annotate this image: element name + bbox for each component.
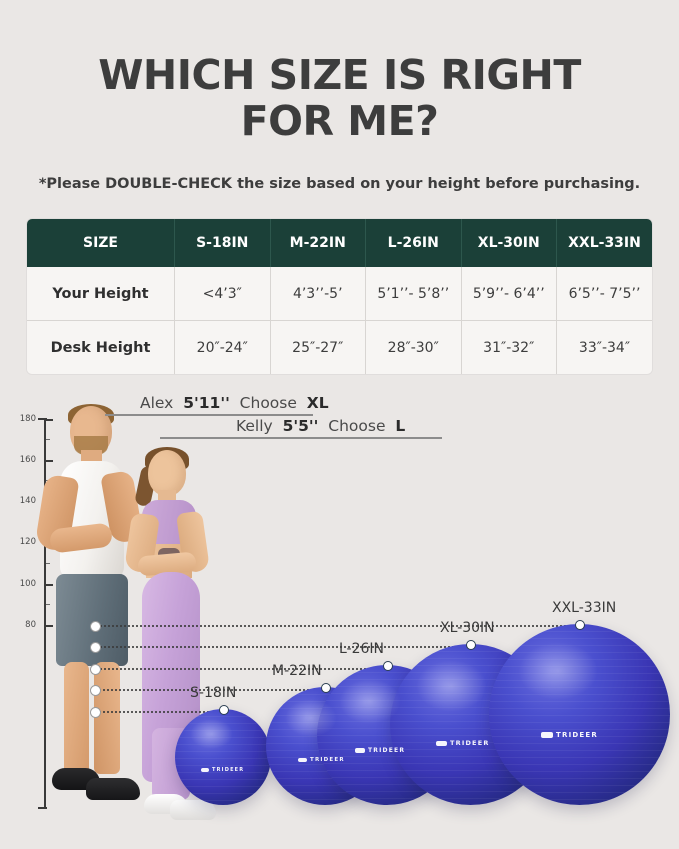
ball-label-s: S-18IN <box>190 685 236 701</box>
kelly-annotation-line <box>160 437 442 439</box>
ball-xl-brand-text: TRIDEER <box>450 739 490 747</box>
page-title-line2: FOR ME? <box>0 98 679 144</box>
your-height-xxl: 6’5’’- 7’5’’ <box>557 267 653 321</box>
table-header-m: M-22IN <box>270 219 366 267</box>
table-header-row: SIZE S-18IN M-22IN L-26IN XL-30IN XXL-33… <box>27 219 652 267</box>
body-marker-l <box>90 664 101 675</box>
ball-xl-highlight <box>416 660 487 712</box>
ruler-label-80: 80 <box>10 620 36 630</box>
size-table: SIZE S-18IN M-22IN L-26IN XL-30IN XXL-33… <box>27 219 652 374</box>
table-header-l: L-26IN <box>366 219 462 267</box>
desk-height-s: 20″-24″ <box>175 321 271 375</box>
page-subtitle: *Please DOUBLE-CHECK the size based on y… <box>0 176 679 192</box>
ball-xl-brand: TRIDEER <box>436 739 490 747</box>
kelly-annotation: Kelly 5'5'' Choose L <box>236 417 405 435</box>
ball-m-brand-text: TRIDEER <box>310 757 345 763</box>
ruler-label-180: 180 <box>10 414 36 424</box>
ball-m-highlight <box>285 699 337 737</box>
ruler-label-100: 100 <box>10 579 36 589</box>
kelly-height: 5'5'' <box>283 417 319 435</box>
height-comparison-diagram: 180 160 140 120 100 80 <box>0 392 679 849</box>
table-header-xxl: XXL-33IN <box>557 219 653 267</box>
ball-label-xxl: XXL-33IN <box>552 600 616 616</box>
alex-height: 5'11'' <box>183 394 230 412</box>
table-row: Your Height <4’3″ 4’3’’-5’ 5’1’’- 5’8’’ … <box>27 267 652 321</box>
table-row: Desk Height 20″-24″ 25″-27″ 28″-30″ 31″-… <box>27 321 652 375</box>
trideer-swoosh-icon <box>541 732 553 738</box>
trideer-swoosh-icon <box>201 768 209 772</box>
ruler-label-140: 140 <box>10 496 36 506</box>
ball-l-highlight <box>339 679 401 724</box>
body-marker-xl <box>90 642 101 653</box>
desk-height-l: 28″-30″ <box>366 321 462 375</box>
kelly-action: Choose <box>328 417 385 435</box>
ball-s-brand-text: TRIDEER <box>212 767 244 773</box>
page-title: WHICH SIZE IS RIGHT FOR ME? <box>0 52 679 144</box>
table-header-size: SIZE <box>27 219 175 267</box>
size-table-head: SIZE S-18IN M-22IN L-26IN XL-30IN XXL-33… <box>27 219 652 267</box>
size-guide-page: WHICH SIZE IS RIGHT FOR ME? *Please DOUB… <box>0 0 679 849</box>
trideer-swoosh-icon <box>355 748 365 753</box>
ball-xxl-marker <box>575 620 585 630</box>
ball-l-brand-text: TRIDEER <box>368 747 405 754</box>
guide-line-xl <box>96 646 466 648</box>
desk-height-xl: 31″-32″ <box>461 321 557 375</box>
page-title-line1: WHICH SIZE IS RIGHT <box>0 52 679 98</box>
desk-height-xxl: 33″-34″ <box>557 321 653 375</box>
ball-m-marker <box>321 683 331 693</box>
ball-xxl-33in: TRIDEER <box>489 624 670 805</box>
ball-xxl-brand-text: TRIDEER <box>556 731 598 739</box>
alex-name: Alex <box>140 394 173 412</box>
alex-left-leg <box>64 662 89 774</box>
ball-l-brand: TRIDEER <box>355 747 405 754</box>
table-header-xl: XL-30IN <box>461 219 557 267</box>
your-height-xl: 5’9’’- 6’4’’ <box>461 267 557 321</box>
ruler-label-160: 160 <box>10 455 36 465</box>
your-height-m: 4’3’’-5’ <box>270 267 366 321</box>
alex-action: Choose <box>240 394 297 412</box>
your-height-l: 5’1’’- 5’8’’ <box>366 267 462 321</box>
ball-m-brand: TRIDEER <box>298 757 345 763</box>
trideer-swoosh-icon <box>298 758 307 762</box>
ball-s-marker <box>219 705 229 715</box>
kelly-size: L <box>395 417 405 435</box>
guide-line-l <box>96 668 382 670</box>
body-marker-m <box>90 685 101 696</box>
row-label-your-height: Your Height <box>27 267 175 321</box>
ball-label-l: L-26IN <box>339 641 384 657</box>
ball-s-highlight <box>190 719 232 750</box>
kelly-name: Kelly <box>236 417 273 435</box>
trideer-swoosh-icon <box>436 741 447 746</box>
ruler-label-120: 120 <box>10 537 36 547</box>
ball-l-marker <box>383 661 393 671</box>
your-height-s: <4’3″ <box>175 267 271 321</box>
alex-right-leg <box>94 662 120 774</box>
ball-s-brand: TRIDEER <box>201 767 244 773</box>
alex-size: XL <box>307 394 329 412</box>
guide-line-xxl <box>96 625 566 627</box>
alex-annotation-line <box>105 414 313 416</box>
ball-label-m: M-22IN <box>272 663 322 679</box>
table-header-s: S-18IN <box>175 219 271 267</box>
size-table-body: Your Height <4’3″ 4’3’’-5’ 5’1’’- 5’8’’ … <box>27 267 652 374</box>
desk-height-m: 25″-27″ <box>270 321 366 375</box>
ball-xxl-brand: TRIDEER <box>541 731 598 739</box>
ball-label-xl: XL-30IN <box>440 620 495 636</box>
ball-xxl-highlight <box>518 642 598 700</box>
ball-s-18in: TRIDEER <box>175 709 271 805</box>
body-marker-xxl <box>90 621 101 632</box>
row-label-desk-height: Desk Height <box>27 321 175 375</box>
ball-xl-marker <box>466 640 476 650</box>
alex-annotation: Alex 5'11'' Choose XL <box>140 394 329 412</box>
body-marker-s <box>90 707 101 718</box>
